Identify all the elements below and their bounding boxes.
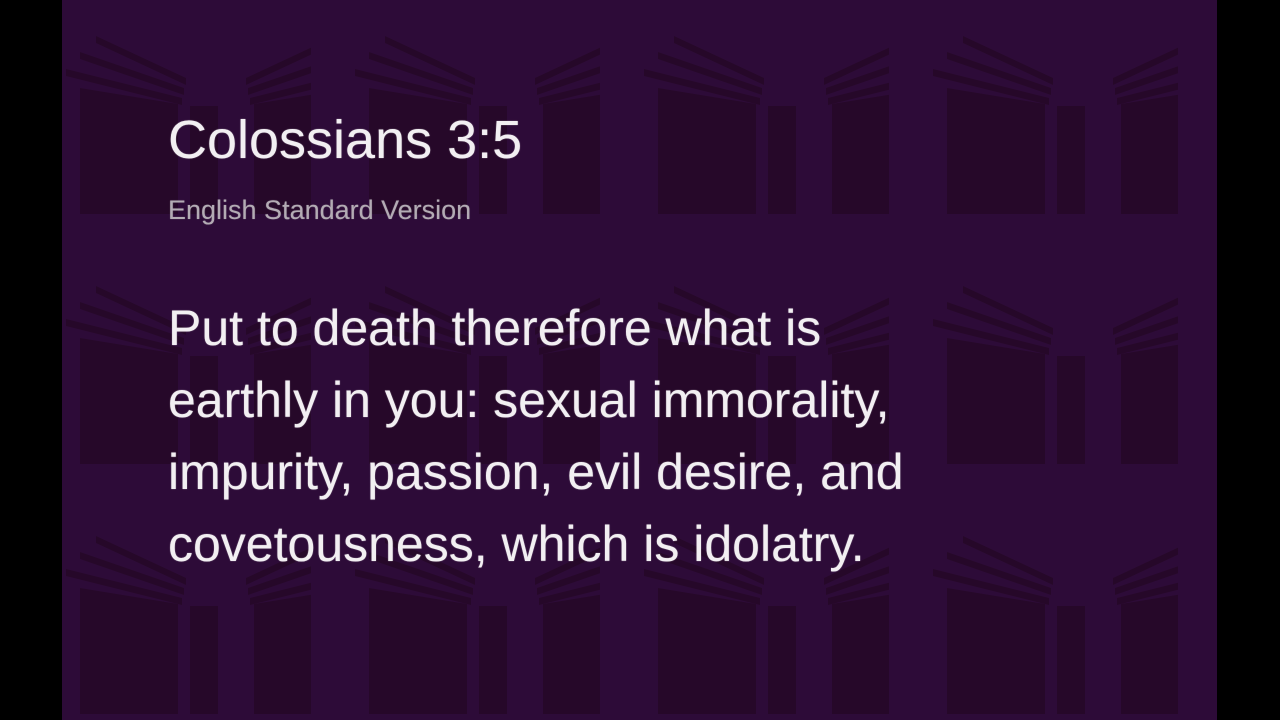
scripture-reference-title: Colossians 3:5 [168, 112, 522, 169]
scripture-slide: Colossians 3:5 English Standard Version … [62, 0, 1217, 720]
video-frame: Colossians 3:5 English Standard Version … [0, 0, 1280, 720]
verse-line: Put to death therefore what is [168, 292, 1128, 364]
verse-text: Put to death therefore what is earthly i… [168, 292, 1128, 580]
slide-content: Colossians 3:5 English Standard Version … [62, 0, 1217, 720]
bible-translation-label: English Standard Version [168, 196, 471, 226]
verse-line: covetousness, which is idolatry. [168, 508, 1128, 580]
letterbox-bar-left [0, 0, 62, 720]
verse-line: earthly in you: sexual immorality, [168, 364, 1128, 436]
letterbox-bar-right [1217, 0, 1280, 720]
verse-line: impurity, passion, evil desire, and [168, 436, 1128, 508]
